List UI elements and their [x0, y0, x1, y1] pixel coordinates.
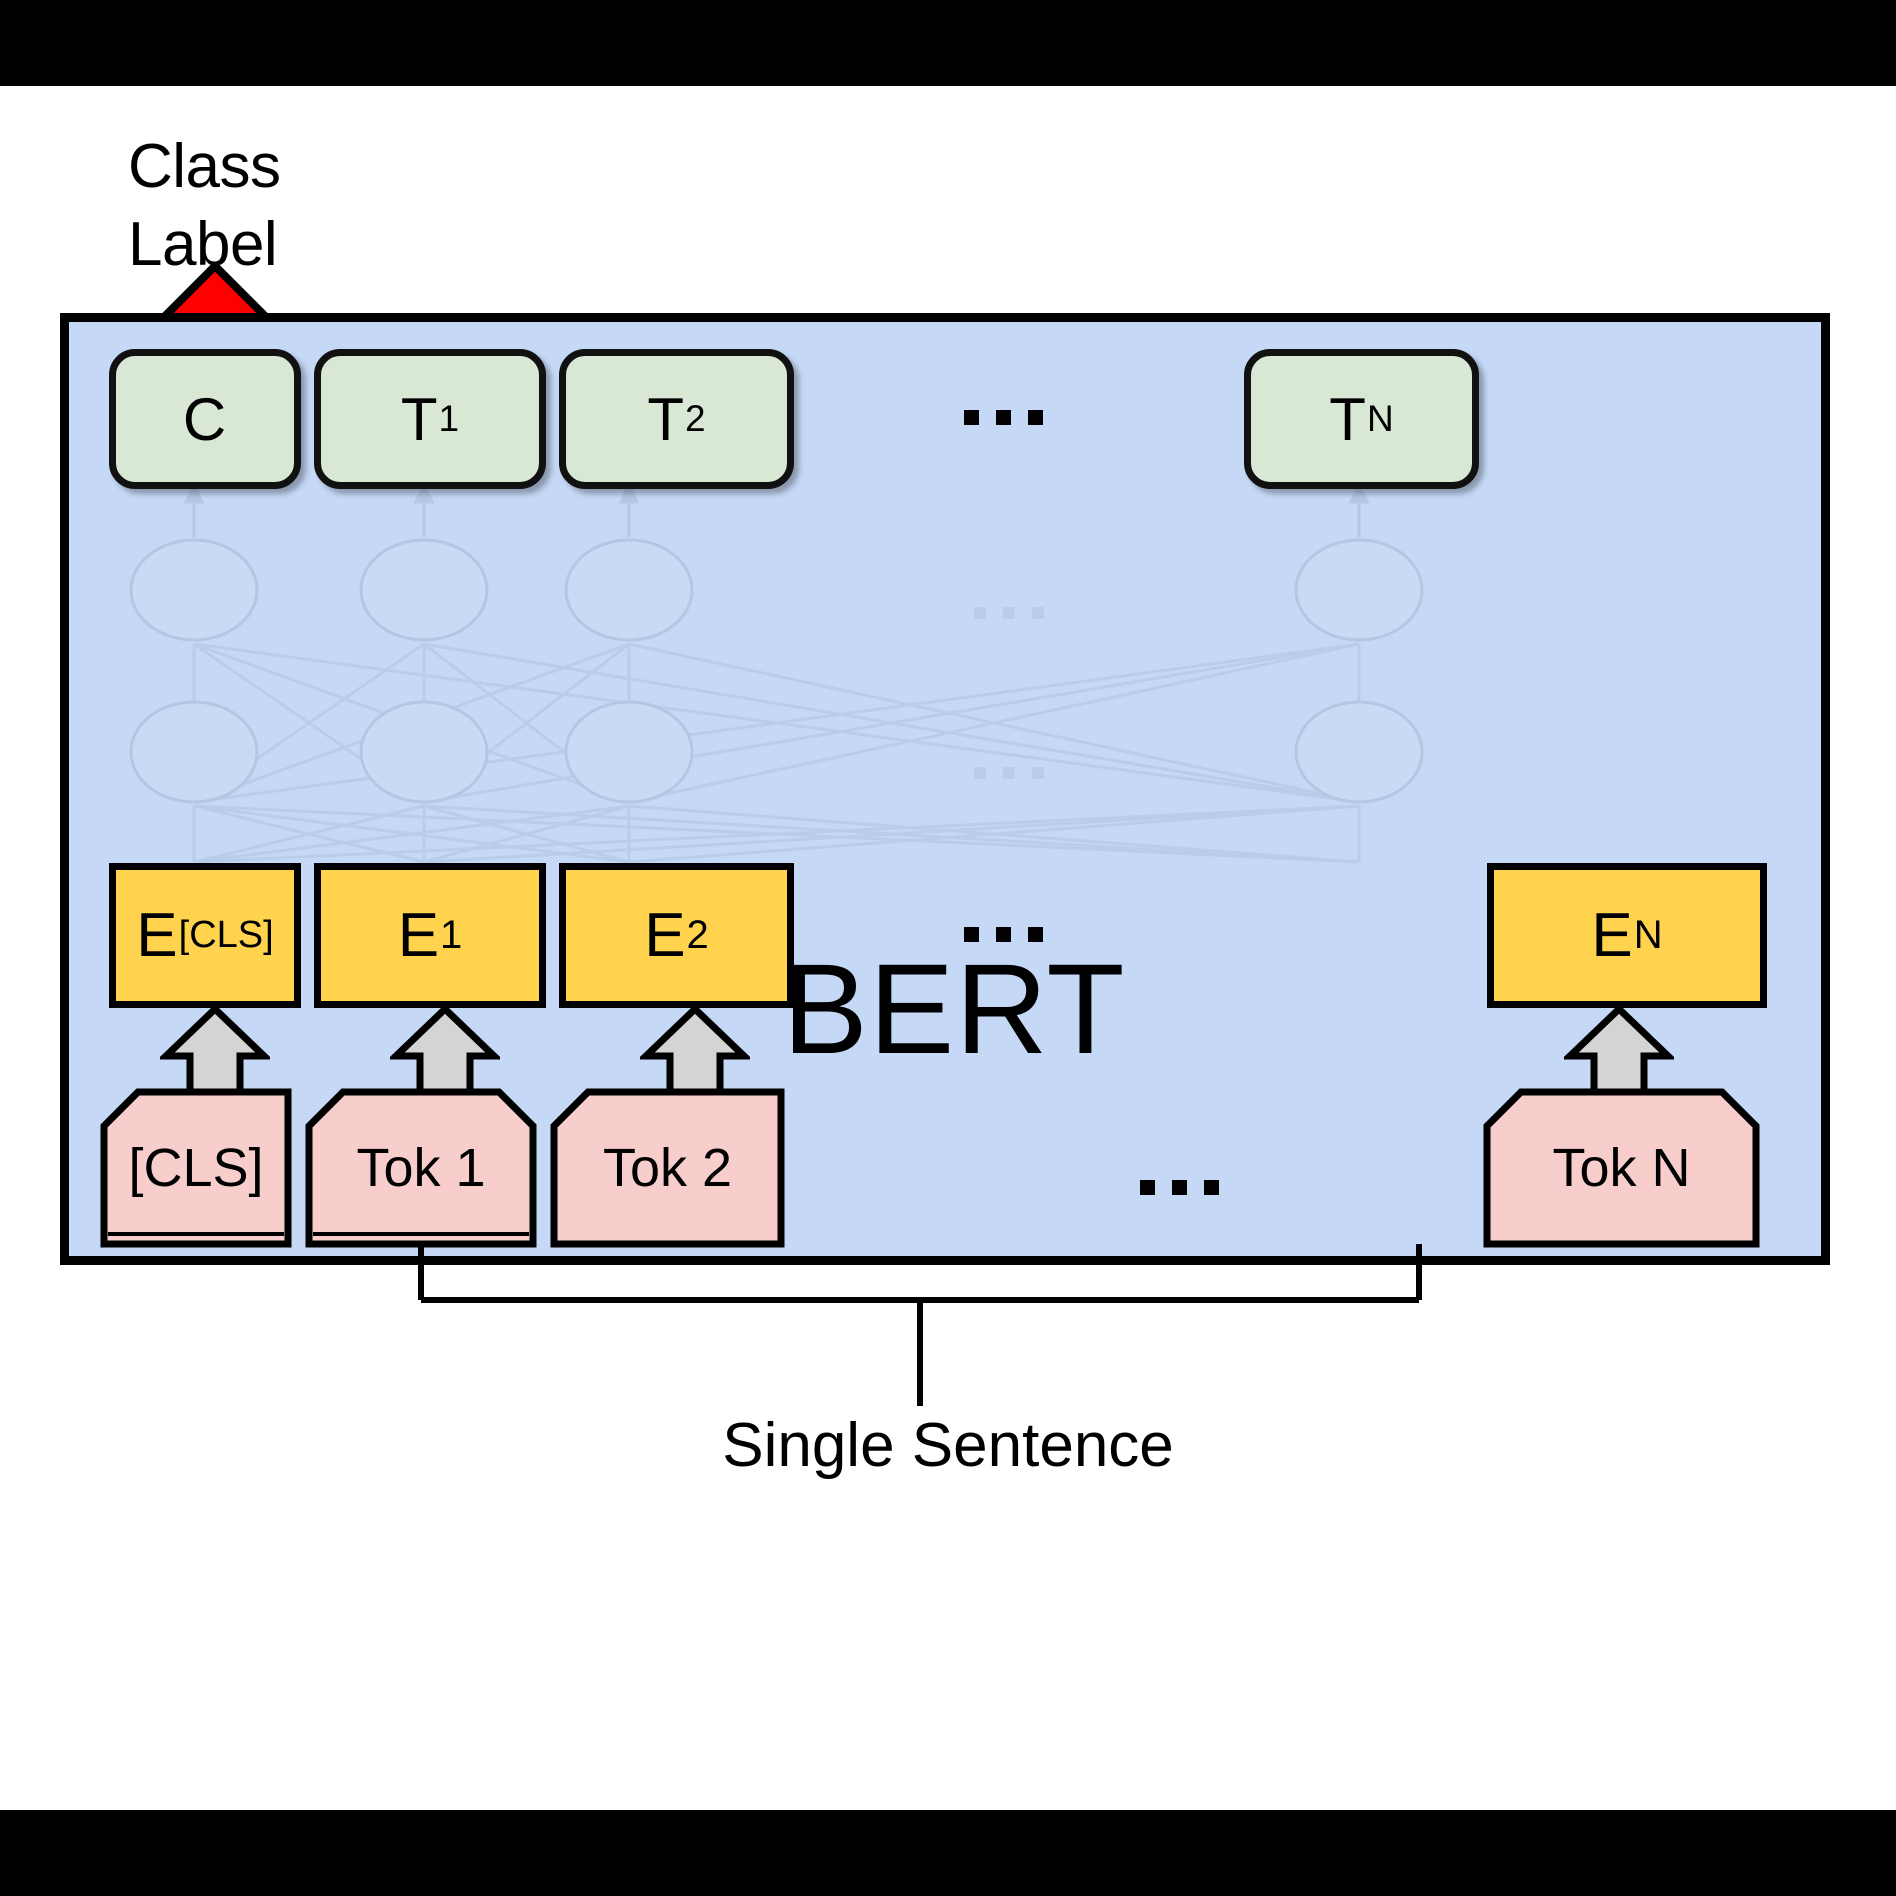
lattice-ellipsis-upper [974, 607, 1044, 619]
embedding-box-e2-label: E [644, 900, 685, 971]
embedding-box-e1[interactable]: E1 [314, 863, 546, 1008]
output-row-ellipsis [964, 410, 1043, 425]
embedding-box-en-subscript: N [1634, 913, 1663, 958]
output-box-tn-subscript: N [1367, 398, 1394, 440]
token-box-cls[interactable]: [CLS] [100, 1088, 292, 1248]
output-box-t2[interactable]: T2 [559, 349, 794, 489]
output-box-t1[interactable]: T1 [314, 349, 546, 489]
embedding-box-e1-label: E [398, 900, 439, 971]
embedding-row-ellipsis [964, 927, 1043, 942]
output-box-t1-subscript: 1 [439, 398, 460, 440]
token-box-cls-label: [CLS] [128, 1137, 263, 1199]
figure-canvas: Class Label [0, 0, 1896, 1896]
output-box-c-label: C [183, 385, 226, 454]
embedding-box-en[interactable]: EN [1487, 863, 1767, 1008]
token-box-tokn[interactable]: Tok N [1483, 1088, 1760, 1248]
output-box-t1-label: T [401, 385, 438, 454]
token-box-tok1[interactable]: Tok 1 [305, 1088, 537, 1248]
embedding-box-e2[interactable]: E2 [559, 863, 794, 1008]
token-box-tok2-label: Tok 2 [603, 1137, 732, 1199]
lattice-ellipsis-lower [974, 767, 1044, 779]
token-box-tok2[interactable]: Tok 2 [550, 1088, 785, 1248]
embedding-box-en-label: E [1591, 900, 1632, 971]
embedding-box-e1-subscript: 1 [440, 913, 462, 958]
letterbox-bottom [0, 1810, 1896, 1896]
token-box-tok1-label: Tok 1 [356, 1137, 485, 1199]
embedding-box-e2-subscript: 2 [687, 913, 709, 958]
token-box-tokn-label: Tok N [1552, 1137, 1690, 1199]
embedding-box-cls-label: E [136, 900, 177, 971]
input-caption-label: Single Sentence [0, 1410, 1896, 1481]
token-row-ellipsis [1140, 1180, 1219, 1195]
output-box-c[interactable]: C [109, 349, 301, 489]
embedding-box-cls[interactable]: E[CLS] [109, 863, 301, 1008]
output-box-t2-subscript: 2 [685, 398, 706, 440]
output-box-t2-label: T [647, 385, 684, 454]
embedding-box-cls-subscript: [CLS] [179, 914, 274, 957]
sentence-bracket [390, 1240, 1450, 1420]
output-box-tn-label: T [1329, 385, 1366, 454]
class-label-text: Class Label [128, 128, 281, 284]
letterbox-top [0, 0, 1896, 86]
output-box-tn[interactable]: TN [1244, 349, 1479, 489]
